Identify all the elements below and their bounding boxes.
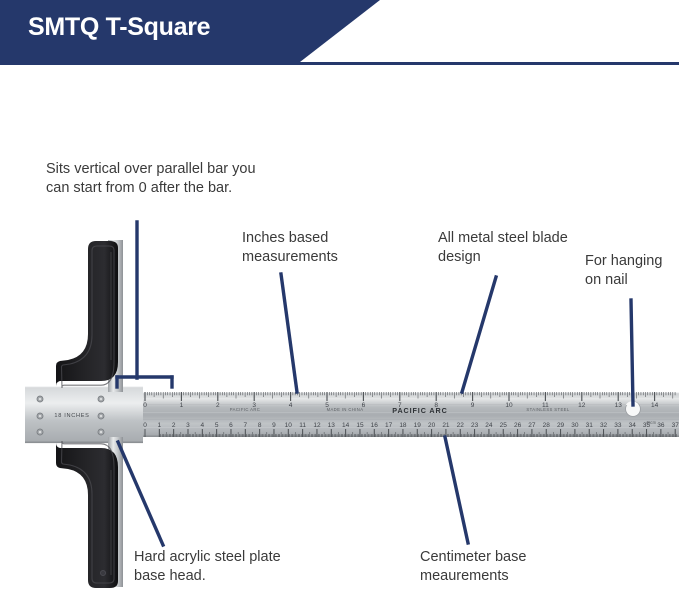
svg-text:22: 22 (457, 422, 465, 429)
svg-text:30: 30 (571, 422, 579, 429)
svg-text:31: 31 (586, 422, 594, 429)
svg-text:33: 33 (614, 422, 622, 429)
head-upper-wing (56, 241, 118, 392)
callout-sits-vertical: Sits vertical over parallel bar you can … (46, 160, 256, 198)
head-lower-wing (56, 437, 118, 588)
svg-text:1: 1 (180, 402, 184, 409)
svg-text:14: 14 (342, 422, 350, 429)
blade-text-left: PACIFIC ARC (230, 407, 260, 412)
blade-brand-text: PACIFIC ARC (392, 406, 447, 415)
callout-metal-blade: All metal steel blade design (438, 229, 568, 267)
svg-text:16: 16 (371, 422, 379, 429)
hole-label: 45cm (646, 420, 657, 425)
svg-text:13: 13 (615, 402, 623, 409)
svg-text:27: 27 (528, 422, 536, 429)
svg-text:13: 13 (328, 422, 336, 429)
svg-text:20: 20 (428, 422, 436, 429)
svg-text:9: 9 (272, 422, 276, 429)
svg-text:0: 0 (143, 402, 147, 409)
head-inches-label: 18 INCHES (54, 413, 89, 419)
svg-text:18: 18 (399, 422, 407, 429)
svg-text:15: 15 (356, 422, 364, 429)
svg-text:25: 25 (500, 422, 508, 429)
svg-text:28: 28 (543, 422, 551, 429)
svg-text:12: 12 (578, 402, 586, 409)
svg-text:12: 12 (313, 422, 321, 429)
svg-text:2: 2 (216, 402, 220, 409)
svg-text:37: 37 (672, 422, 679, 429)
svg-text:29: 29 (557, 422, 565, 429)
svg-text:5: 5 (215, 422, 219, 429)
svg-text:2: 2 (172, 422, 176, 429)
callout-for-hanging: For hanging on nail (585, 252, 679, 290)
t-square-head-plate: 18 INCHES (25, 386, 143, 443)
svg-text:17: 17 (385, 422, 393, 429)
svg-text:34: 34 (629, 422, 637, 429)
blade-text-right: STAINLESS STEEL (526, 407, 569, 412)
svg-text:7: 7 (243, 422, 247, 429)
svg-text:23: 23 (471, 422, 479, 429)
svg-text:9: 9 (471, 402, 475, 409)
svg-text:6: 6 (229, 422, 233, 429)
svg-text:19: 19 (414, 422, 422, 429)
svg-text:4: 4 (201, 422, 205, 429)
svg-text:10: 10 (505, 402, 513, 409)
callout-acrylic-head: Hard acrylic steel plate base head. (134, 548, 294, 586)
svg-text:0: 0 (143, 422, 147, 429)
svg-text:1: 1 (158, 422, 162, 429)
blade-text-mid: MADE IN CHINA (327, 407, 364, 412)
svg-text:8: 8 (258, 422, 262, 429)
svg-text:4: 4 (289, 402, 293, 409)
svg-text:11: 11 (299, 422, 306, 429)
product-image: 21001234567891011121314 7654321012345678… (0, 0, 679, 594)
svg-text:24: 24 (485, 422, 493, 429)
callout-centimeter-base: Centimeter base meaurements (420, 548, 580, 586)
svg-text:26: 26 (514, 422, 522, 429)
svg-text:3: 3 (186, 422, 190, 429)
svg-text:36: 36 (657, 422, 665, 429)
svg-text:14: 14 (651, 402, 659, 409)
product-infographic: SMTQ T-Square (0, 0, 679, 594)
callout-inches-based: Inches based measurements (242, 229, 382, 267)
svg-text:32: 32 (600, 422, 608, 429)
svg-text:21: 21 (442, 422, 450, 429)
svg-text:10: 10 (285, 422, 293, 429)
hanging-hole (626, 402, 641, 417)
